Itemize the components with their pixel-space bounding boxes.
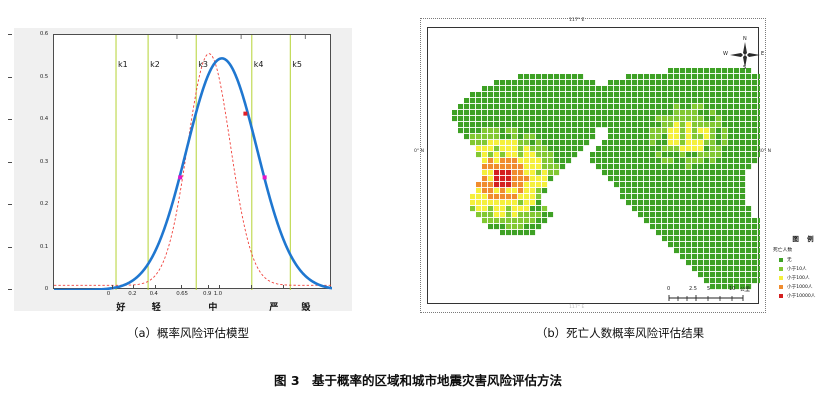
scalebar-tick-0: 0: [667, 286, 670, 292]
map-cell: [572, 128, 577, 133]
map-cell: [698, 266, 703, 271]
map-cell: [692, 200, 697, 205]
map-cell: [668, 152, 673, 157]
map-cell: [716, 164, 721, 169]
map-cell: [524, 146, 529, 151]
map-cell: [668, 242, 673, 247]
map-cell: [512, 122, 517, 127]
map-cell: [650, 152, 655, 157]
map-cell: [746, 110, 751, 115]
map-cell: [620, 116, 625, 121]
map-cell: [746, 260, 751, 265]
map-cell: [488, 158, 493, 163]
map-cell: [650, 182, 655, 187]
map-cell: [488, 122, 493, 127]
map-cell: [632, 188, 637, 193]
y-tick-label-0: 0: [24, 286, 48, 292]
map-cell: [518, 218, 523, 223]
legend-item-list: 无小于10人小于100人小于1000人小于10000人: [772, 255, 834, 300]
map-cell: [596, 146, 601, 151]
map-cell: [524, 128, 529, 133]
map-cell: [728, 200, 733, 205]
map-cell: [710, 212, 715, 217]
map-cell: [524, 164, 529, 169]
map-cell: [590, 134, 595, 139]
map-cell: [674, 164, 679, 169]
subcaption-a: （a）概率风险评估模型: [38, 325, 338, 341]
map-cell: [710, 158, 715, 163]
map-cell: [668, 194, 673, 199]
map-cell: [674, 188, 679, 193]
map-cell: [740, 212, 745, 217]
map-cell: [566, 104, 571, 109]
map-cell: [494, 146, 499, 151]
map-cell: [650, 80, 655, 85]
map-cell: [710, 74, 715, 79]
map-cell: [554, 116, 559, 121]
map-cell: [680, 110, 685, 115]
map-cell: [674, 158, 679, 163]
map-cell: [482, 176, 487, 181]
map-cell: [596, 116, 601, 121]
map-cell: [560, 158, 565, 163]
map-cell: [548, 74, 553, 79]
map-cell: [704, 86, 709, 91]
map-cell: [536, 128, 541, 133]
compass-north-label: N: [743, 36, 747, 42]
map-cell: [740, 266, 745, 271]
map-cell: [734, 272, 739, 277]
map-cell: [722, 116, 727, 121]
map-cell: [704, 224, 709, 229]
map-cell: [686, 188, 691, 193]
map-cell: [518, 128, 523, 133]
map-cell: [716, 158, 721, 163]
map-cell: [692, 116, 697, 121]
map-cell: [512, 182, 517, 187]
map-cell: [704, 230, 709, 235]
map-cell: [722, 236, 727, 241]
map-cell: [680, 230, 685, 235]
map-cell: [644, 176, 649, 181]
map-cell: [734, 122, 739, 127]
graticule-right-label: 40° N: [758, 149, 771, 154]
map-cell: [560, 152, 565, 157]
map-cell: [512, 98, 517, 103]
map-cell: [476, 122, 481, 127]
map-cell: [662, 86, 667, 91]
map-cell: [650, 128, 655, 133]
map-cell: [746, 92, 751, 97]
map-cell: [476, 182, 481, 187]
map-cell: [692, 260, 697, 265]
map-cell: [710, 146, 715, 151]
map-cell: [584, 104, 589, 109]
map-cell: [710, 278, 715, 283]
scalebar-unit-label: 公里: [740, 286, 750, 293]
map-cell: [620, 104, 625, 109]
map-cell: [758, 110, 760, 115]
map-cell: [728, 242, 733, 247]
map-cell: [608, 164, 613, 169]
map-cell: [632, 116, 637, 121]
map-cell: [542, 128, 547, 133]
map-cell: [698, 92, 703, 97]
map-cell: [620, 164, 625, 169]
map-cell: [614, 110, 619, 115]
map-cell: [740, 116, 745, 121]
map-cell: [680, 122, 685, 127]
map-cell: [668, 134, 673, 139]
map-cell: [482, 170, 487, 175]
map-cell: [638, 164, 643, 169]
map-cell: [524, 86, 529, 91]
map-cell: [680, 86, 685, 91]
map-cell: [542, 74, 547, 79]
map-cell: [650, 158, 655, 163]
map-cell: [728, 98, 733, 103]
map-cell: [560, 116, 565, 121]
map-cell: [758, 218, 760, 223]
map-cell: [674, 212, 679, 217]
map-cell: [674, 110, 679, 115]
map-cell: [584, 122, 589, 127]
map-cell: [560, 74, 565, 79]
map-cell: [710, 80, 715, 85]
map-cell: [692, 134, 697, 139]
map-cell: [596, 92, 601, 97]
map-cell: [686, 170, 691, 175]
map-cell: [590, 122, 595, 127]
map-cell: [638, 122, 643, 127]
marker-left: [178, 175, 182, 179]
map-cell: [740, 176, 745, 181]
map-cell: [686, 194, 691, 199]
map-cell: [698, 152, 703, 157]
map-cell: [728, 206, 733, 211]
map-cell: [626, 104, 631, 109]
map-cell: [506, 80, 511, 85]
map-cell: [602, 116, 607, 121]
map-cell: [614, 98, 619, 103]
map-cell: [710, 272, 715, 277]
map-cell: [710, 104, 715, 109]
map-cell: [482, 104, 487, 109]
map-cell: [482, 188, 487, 193]
map-cell: [626, 164, 631, 169]
map-cell: [548, 140, 553, 145]
map-cell: [488, 170, 493, 175]
map-cell: [680, 134, 685, 139]
map-cell: [518, 104, 523, 109]
map-cell: [512, 170, 517, 175]
map-cell: [704, 194, 709, 199]
map-cell: [740, 236, 745, 241]
map-cell: [536, 104, 541, 109]
map-cell: [746, 164, 751, 169]
map-cell: [518, 152, 523, 157]
map-cell: [458, 128, 463, 133]
map-cell: [668, 230, 673, 235]
map-cell: [638, 86, 643, 91]
map-cell: [584, 110, 589, 115]
map-cell: [680, 170, 685, 175]
x-tick-label-0.9: 0.9: [203, 291, 211, 297]
map-cell: [728, 140, 733, 145]
x-tick-label-0.2: 0.2: [128, 291, 136, 297]
map-cell: [518, 212, 523, 217]
map-cell: [518, 224, 523, 229]
map-cell: [554, 122, 559, 127]
map-cell: [626, 74, 631, 79]
map-cell: [692, 146, 697, 151]
map-cell: [752, 152, 757, 157]
map-cell: [500, 206, 505, 211]
map-cell: [680, 176, 685, 181]
map-cell: [716, 92, 721, 97]
map-cell: [638, 182, 643, 187]
map-cell: [680, 116, 685, 121]
map-cell: [542, 140, 547, 145]
map-cell: [530, 98, 535, 103]
map-cell: [632, 104, 637, 109]
map-cell: [722, 134, 727, 139]
map-cell: [710, 140, 715, 145]
map-cell: [644, 86, 649, 91]
map-cell: [482, 146, 487, 151]
compass-west-label: W: [723, 51, 728, 57]
map-cell: [710, 98, 715, 103]
map-cell: [674, 206, 679, 211]
map-cell: [734, 188, 739, 193]
map-cell: [548, 134, 553, 139]
map-cell: [524, 218, 529, 223]
map-cell: [674, 152, 679, 157]
map-cell: [734, 212, 739, 217]
map-cell: [506, 86, 511, 91]
map-cell: [668, 206, 673, 211]
map-cell: [632, 194, 637, 199]
scalebar-tick-3: 10: [729, 286, 735, 292]
map-cell: [686, 218, 691, 223]
map-cell: [734, 164, 739, 169]
map-cell: [746, 242, 751, 247]
map-cell: [668, 110, 673, 115]
map-cell: [704, 110, 709, 115]
map-cell: [626, 122, 631, 127]
map-cell: [494, 92, 499, 97]
map-cell: [638, 170, 643, 175]
map-cell: [686, 122, 691, 127]
map-cell: [668, 200, 673, 205]
map-cell: [698, 104, 703, 109]
map-cell: [524, 194, 529, 199]
map-cell: [752, 278, 757, 283]
map-cell: [590, 80, 595, 85]
map-cell: [758, 230, 760, 235]
map-cell: [728, 134, 733, 139]
map-cell: [626, 134, 631, 139]
map-cell: [704, 134, 709, 139]
map-cell: [482, 140, 487, 145]
map-cell: [584, 116, 589, 121]
map-cell: [734, 86, 739, 91]
y-tick-label-0.2: 0.2: [24, 201, 48, 207]
map-cell: [530, 164, 535, 169]
category-label-3: 严: [269, 300, 278, 313]
map-cell: [686, 224, 691, 229]
map-cell: [656, 212, 661, 217]
map-cell: [500, 86, 505, 91]
map-cell: [488, 176, 493, 181]
map-cell: [752, 134, 757, 139]
map-cell: [698, 122, 703, 127]
map-cell: [722, 146, 727, 151]
panel-b-casualty-map: N S W E 0 2.5 5: [420, 18, 766, 313]
legend-swatch-icon-4: [779, 294, 783, 298]
map-cell: [494, 104, 499, 109]
map-cell: [680, 104, 685, 109]
map-cell: [644, 164, 649, 169]
map-cell: [668, 80, 673, 85]
map-cell: [536, 224, 541, 229]
map-cell: [494, 206, 499, 211]
map-cell: [656, 92, 661, 97]
map-cell: [710, 206, 715, 211]
map-cell: [752, 218, 757, 223]
map-cell: [488, 92, 493, 97]
map-cell: [728, 194, 733, 199]
map-cell: [590, 128, 595, 133]
map-cell: [734, 176, 739, 181]
map-cell: [734, 260, 739, 265]
map-cell: [500, 98, 505, 103]
map-cell: [620, 134, 625, 139]
map-cell: [656, 74, 661, 79]
map-cell: [692, 128, 697, 133]
map-cell: [596, 110, 601, 115]
map-cell: [554, 80, 559, 85]
map-cell: [722, 200, 727, 205]
map-cell: [656, 86, 661, 91]
map-cell: [734, 140, 739, 145]
y-tick-label-0.6: 0.6: [24, 31, 48, 37]
map-cell: [734, 254, 739, 259]
map-cell: [692, 98, 697, 103]
map-cell: [710, 170, 715, 175]
map-cell: [668, 98, 673, 103]
map-cell: [626, 140, 631, 145]
map-cell: [728, 80, 733, 85]
map-cell: [512, 146, 517, 151]
map-cell: [542, 122, 547, 127]
marker-red: [243, 112, 247, 116]
map-cell: [662, 104, 667, 109]
map-cell: [602, 110, 607, 115]
map-cell: [692, 224, 697, 229]
map-cell: [560, 86, 565, 91]
map-cell: [722, 140, 727, 145]
map-cell: [722, 212, 727, 217]
map-cell: [476, 116, 481, 121]
map-cell: [512, 176, 517, 181]
figure-root: 00.10.20.30.40.50.600.20.40.650.91.0好轻中严…: [0, 0, 836, 414]
map-cell: [722, 86, 727, 91]
map-cell: [524, 104, 529, 109]
map-cell: [482, 110, 487, 115]
map-cell: [626, 92, 631, 97]
map-cell: [740, 140, 745, 145]
map-cell: [698, 200, 703, 205]
map-cell: [530, 122, 535, 127]
map-cell: [716, 260, 721, 265]
map-cell: [494, 218, 499, 223]
map-cell: [668, 146, 673, 151]
map-cell: [716, 116, 721, 121]
x-tick-mark: [155, 285, 156, 289]
map-cell: [662, 236, 667, 241]
scalebar-tick-2: 5: [707, 286, 710, 292]
legend-item-4: 小于10000人: [772, 291, 834, 300]
map-cell: [734, 128, 739, 133]
map-cell: [698, 164, 703, 169]
map-cell: [644, 152, 649, 157]
map-cell: [704, 206, 709, 211]
map-cell: [476, 140, 481, 145]
map-cell: [692, 92, 697, 97]
map-cell: [530, 134, 535, 139]
map-cell: [602, 170, 607, 175]
map-cell: [530, 170, 535, 175]
map-cell: [518, 188, 523, 193]
map-cell: [656, 230, 661, 235]
map-cell: [698, 206, 703, 211]
map-cell: [722, 272, 727, 277]
map-cell: [464, 104, 469, 109]
map-cell: [500, 188, 505, 193]
map-cell: [674, 74, 679, 79]
map-cell: [500, 122, 505, 127]
map-cell: [578, 86, 583, 91]
map-cell: [686, 116, 691, 121]
map-cell: [650, 212, 655, 217]
map-cell: [578, 110, 583, 115]
map-cell: [614, 146, 619, 151]
map-cell: [644, 74, 649, 79]
map-cell: [710, 242, 715, 247]
y-tick-mark: [8, 289, 12, 290]
map-cell: [566, 158, 571, 163]
map-cell: [668, 92, 673, 97]
map-cell: [674, 98, 679, 103]
map-cell: [524, 158, 529, 163]
map-cell: [482, 158, 487, 163]
map-cell: [716, 68, 721, 73]
map-cell: [554, 140, 559, 145]
map-cell: [746, 248, 751, 253]
map-cell: [488, 134, 493, 139]
map-cell: [608, 92, 613, 97]
map-cell: [692, 68, 697, 73]
map-cell: [662, 182, 667, 187]
map-cell: [650, 98, 655, 103]
map-cell: [740, 218, 745, 223]
map-cell: [734, 116, 739, 121]
map-cell: [626, 200, 631, 205]
map-cell: [758, 266, 760, 271]
x-minor-tick-mark: [283, 285, 284, 289]
map-cell: [674, 218, 679, 223]
